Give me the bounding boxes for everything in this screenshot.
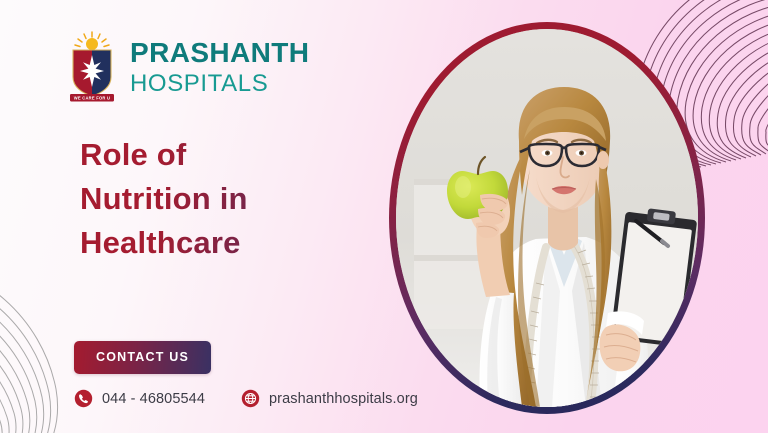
contact-row: 044 - 46805544 prashanthhospitals.org	[74, 389, 418, 408]
hero-image-frame	[389, 22, 705, 414]
headline-line-3: Healthcare	[80, 221, 380, 265]
headline-line-1: Role of	[80, 133, 380, 177]
contact-us-button[interactable]: CONTACT US	[74, 341, 211, 374]
headline-line-2: Nutrition in	[80, 177, 380, 221]
nutritionist-photo	[396, 29, 698, 407]
headline: Role of Nutrition in Healthcare	[80, 133, 380, 265]
brand-logo[interactable]: WE CARE FOR U PRASHANTH HOSPITALS	[66, 31, 309, 103]
phone-number: 044 - 46805544	[102, 391, 205, 407]
brand-wordmark: PRASHANTH HOSPITALS	[130, 39, 309, 96]
promo-banner: WE CARE FOR U PRASHANTH HOSPITALS Role o…	[0, 0, 768, 433]
prashanth-hospitals-shield-emblem-icon: WE CARE FOR U	[66, 31, 118, 103]
phone-icon	[74, 389, 93, 408]
emblem-motto-text: WE CARE FOR U	[74, 96, 110, 101]
brand-subname: HOSPITALS	[130, 72, 309, 96]
brand-name: PRASHANTH	[130, 39, 309, 67]
phone-contact-item[interactable]: 044 - 46805544	[74, 389, 205, 408]
globe-icon	[241, 389, 260, 408]
